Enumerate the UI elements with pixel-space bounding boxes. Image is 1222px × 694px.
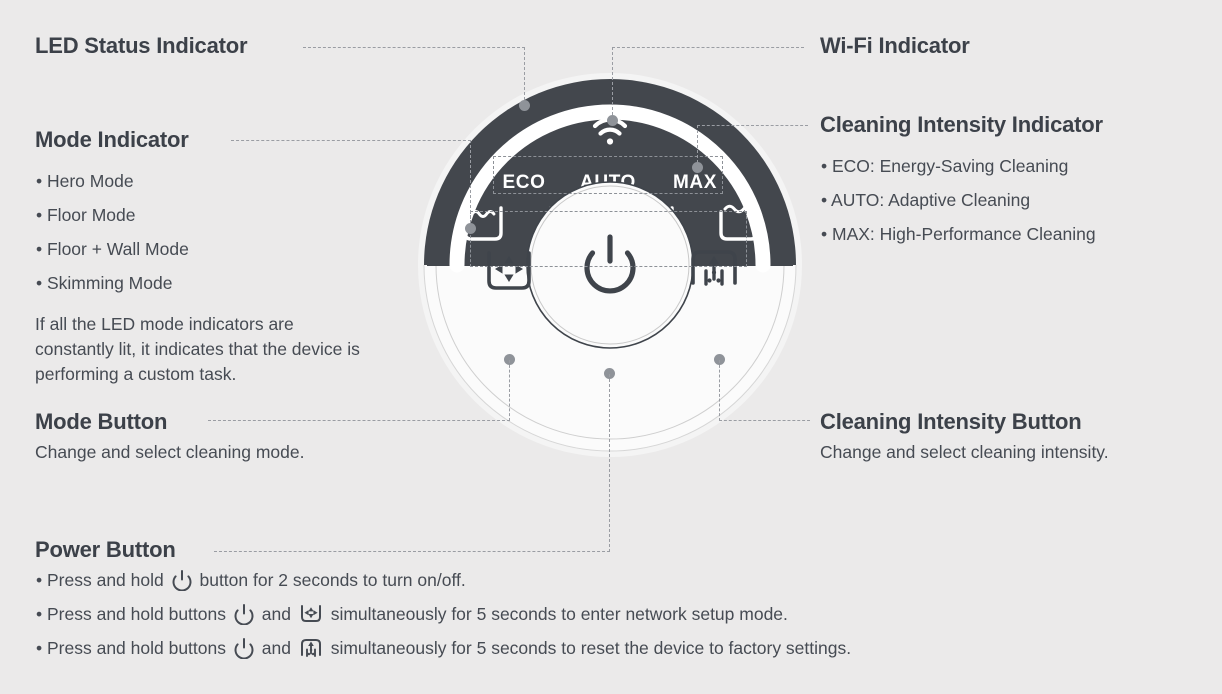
leader-intensity-btn-h — [719, 420, 810, 421]
leader-dot-intensity-ind — [692, 162, 703, 173]
callout-title-power-button: Power Button — [35, 537, 176, 563]
intensity-indicator-item-0: • ECO: Energy-Saving Cleaning — [821, 156, 1068, 177]
power-icon-inline-1 — [172, 569, 192, 596]
highlight-box-intensity-labels — [493, 156, 723, 194]
leader-mode-ind-v — [470, 140, 471, 228]
mode-indicator-note: If all the LED mode indicators are const… — [35, 312, 370, 387]
power-line3-text-mid: and — [262, 638, 291, 658]
callout-title-wifi: Wi-Fi Indicator — [820, 33, 970, 59]
leader-power-btn-v — [609, 374, 610, 552]
power-line2-text-mid: and — [262, 604, 291, 624]
intensity-indicator-item-1: • AUTO: Adaptive Cleaning — [821, 190, 1030, 211]
power-line3-text-b: simultaneously for 5 seconds to reset th… — [331, 638, 851, 658]
mode-indicator-item-3: • Skimming Mode — [36, 273, 172, 294]
diagram-canvas: ECO AUTO MAX — [0, 0, 1222, 694]
callout-title-cleaning-intensity-button: Cleaning Intensity Button — [820, 409, 1081, 435]
callout-title-cleaning-intensity-indicator: Cleaning Intensity Indicator — [820, 112, 1103, 138]
intensity-indicator-item-2: • MAX: High-Performance Cleaning — [821, 224, 1096, 245]
leader-dot-mode-ind — [465, 223, 476, 234]
leader-intensity-ind-h — [697, 125, 808, 126]
power-line1-text-a: • Press and hold — [36, 570, 164, 590]
highlight-box-mode-icons — [470, 211, 747, 267]
power-button-line-1: • Press and hold button for 2 seconds to… — [36, 569, 466, 596]
cleaning-intensity-button-icon-inline — [299, 637, 323, 664]
leader-led-status-v — [524, 47, 525, 105]
mode-indicator-item-2: • Floor + Wall Mode — [36, 239, 189, 260]
leader-mode-btn-v — [509, 360, 510, 421]
power-button-line-2: • Press and hold buttons and simultaneou… — [36, 603, 788, 630]
leader-dot-led-status — [519, 100, 530, 111]
mode-indicator-item-1: • Floor Mode — [36, 205, 136, 226]
power-icon-inline-2 — [234, 603, 254, 630]
leader-wifi-h — [612, 47, 804, 48]
mode-button-description: Change and select cleaning mode. — [35, 442, 305, 463]
leader-led-status-h — [303, 47, 525, 48]
power-line2-text-b: simultaneously for 5 seconds to enter ne… — [331, 604, 788, 624]
leader-power-btn-h — [214, 551, 610, 552]
leader-wifi-v — [612, 47, 613, 120]
cleaning-intensity-button-description: Change and select cleaning intensity. — [820, 442, 1109, 463]
callout-title-mode-button: Mode Button — [35, 409, 167, 435]
power-line1-text-b: button for 2 seconds to turn on/off. — [199, 570, 465, 590]
callout-title-led-status: LED Status Indicator — [35, 33, 247, 59]
power-line2-text-a: • Press and hold buttons — [36, 604, 226, 624]
callout-title-mode-indicator: Mode Indicator — [35, 127, 189, 153]
mode-indicator-item-0: • Hero Mode — [36, 171, 134, 192]
leader-intensity-btn-v — [719, 360, 720, 421]
mode-button-icon-inline — [299, 603, 323, 630]
power-button-line-3: • Press and hold buttons and simultaneou… — [36, 637, 851, 664]
power-line3-text-a: • Press and hold buttons — [36, 638, 226, 658]
leader-mode-btn-h — [208, 420, 510, 421]
leader-dot-wifi — [607, 115, 618, 126]
leader-mode-ind-h — [231, 140, 471, 141]
power-icon-inline-3 — [234, 637, 254, 664]
